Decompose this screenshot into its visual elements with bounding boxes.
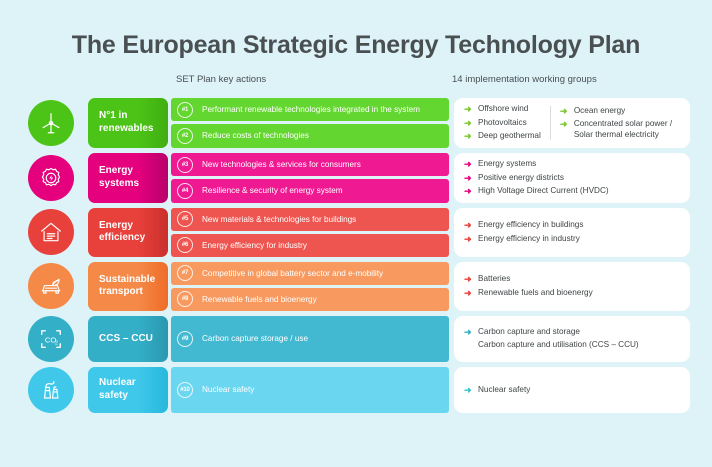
action-badge: #2 — [177, 128, 193, 144]
row-renewables: N°1 in renewables#1Performant renewable … — [28, 98, 690, 148]
action-item[interactable]: #7Competitive in global battery sector a… — [171, 262, 449, 285]
action-text: New technologies & services for consumer… — [202, 160, 361, 170]
arrow-right-icon: ➜ — [464, 220, 475, 230]
row-energy-systems: Energy systems#3New technologies & servi… — [28, 153, 690, 203]
theme-label-text: Nuclear safety — [99, 377, 136, 403]
theme-label-nuclear-safety[interactable]: Nuclear safety — [88, 367, 168, 413]
row-ccs-ccu: CO2CCS – CCU#9Carbon capture storage / u… — [28, 316, 690, 362]
infographic-poster: The European Strategic Energy Technology… — [0, 0, 712, 467]
action-badge: #10 — [177, 382, 193, 398]
gear-bolt-icon — [28, 155, 74, 201]
theme-label-text: Energy efficiency — [99, 220, 145, 246]
actions-panel-renewables: #1Performant renewable technologies inte… — [171, 98, 449, 148]
action-badge: #4 — [177, 183, 193, 199]
working-group-label: Photovoltaics — [478, 118, 527, 129]
arrow-right-icon: ➜ — [464, 104, 475, 114]
working-group-item[interactable]: ➜Positive energy districts — [464, 173, 609, 184]
working-group-item[interactable]: ➜Photovoltaics — [464, 118, 541, 129]
working-group-item[interactable]: ➜Batteries — [464, 274, 593, 285]
working-group-label: Batteries — [478, 274, 510, 285]
arrow-right-icon: ➜ — [464, 288, 475, 298]
working-group-item[interactable]: ➜Offshore wind — [464, 104, 541, 115]
theme-label-sustainable-transport[interactable]: Sustainable transport — [88, 262, 168, 311]
theme-label-renewables[interactable]: N°1 in renewables — [88, 98, 168, 148]
arrow-right-icon: ➜ — [464, 131, 475, 141]
working-group-item[interactable]: ➜Renewable fuels and bioenergy — [464, 288, 593, 299]
svg-text:2: 2 — [55, 340, 58, 346]
working-group-label: High Voltage Direct Current (HVDC) — [478, 186, 609, 197]
actions-panel-energy-efficiency: #5New materials & technologies for build… — [171, 208, 449, 257]
theme-label-text: CCS – CCU — [99, 333, 153, 346]
action-text: Competitive in global battery sector and… — [202, 269, 383, 279]
theme-label-text: N°1 in renewables — [99, 110, 153, 136]
working-group-item[interactable]: ➜Energy systems — [464, 159, 609, 170]
actions-panel-nuclear-safety: #10Nuclear safety — [171, 367, 449, 413]
theme-label-energy-systems[interactable]: Energy systems — [88, 153, 168, 203]
working-group-item-continuation: ➜Carbon capture and utilisation (CCS – C… — [464, 340, 639, 351]
row-nuclear-safety: Nuclear safety#10Nuclear safety➜Nuclear … — [28, 367, 690, 413]
house-document-icon — [28, 209, 74, 255]
arrow-right-icon: ➜ — [464, 186, 475, 196]
groups-panel-energy-efficiency: ➜Energy efficiency in buildings➜Energy e… — [454, 208, 690, 257]
working-group-item[interactable]: ➜Energy efficiency in industry — [464, 234, 583, 245]
working-group-label: Energy systems — [478, 159, 536, 170]
action-badge: #6 — [177, 237, 193, 253]
action-item[interactable]: #4Resilience & security of energy system — [171, 179, 449, 202]
nuclear-plant-icon — [28, 367, 74, 413]
arrow-right-icon: ➜ — [464, 159, 475, 169]
action-item[interactable]: #1Performant renewable technologies inte… — [171, 98, 449, 121]
groups-panel-energy-systems: ➜Energy systems➜Positive energy district… — [454, 153, 690, 203]
action-item[interactable]: #6Energy efficiency for industry — [171, 234, 449, 257]
working-group-label: Nuclear safety — [478, 385, 530, 396]
groups-panel-sustainable-transport: ➜Batteries➜Renewable fuels and bioenergy — [454, 262, 690, 311]
working-group-item[interactable]: ➜Deep geothermal — [464, 131, 541, 142]
arrow-right-icon: ➜ — [560, 119, 571, 129]
page-title: The European Strategic Energy Technology… — [0, 0, 712, 60]
arrow-right-icon: ➜ — [464, 274, 475, 284]
action-text: Carbon capture storage / use — [202, 334, 308, 344]
group-column: ➜Batteries➜Renewable fuels and bioenergy — [464, 274, 602, 298]
action-badge: #7 — [177, 265, 193, 281]
group-column: ➜Energy systems➜Positive energy district… — [464, 159, 618, 197]
actions-panel-sustainable-transport: #7Competitive in global battery sector a… — [171, 262, 449, 311]
working-group-label: Concentrated solar power / Solar thermal… — [574, 119, 672, 140]
action-text: Nuclear safety — [202, 385, 254, 395]
group-column: ➜Ocean energy➜Concentrated solar power /… — [550, 106, 672, 141]
arrow-right-icon: ➜ — [464, 118, 475, 128]
working-group-label: Offshore wind — [478, 104, 528, 115]
action-badge: #1 — [177, 102, 193, 118]
theme-label-text: Sustainable transport — [99, 274, 155, 300]
action-item[interactable]: #9Carbon capture storage / use — [171, 316, 449, 362]
working-group-item[interactable]: ➜Ocean energy — [560, 106, 672, 117]
action-text: Resilience & security of energy system — [202, 186, 343, 196]
arrow-right-icon: ➜ — [560, 106, 571, 116]
working-group-label: Carbon capture and storage — [478, 327, 580, 338]
row-sustainable-transport: Sustainable transport#7Competitive in gl… — [28, 262, 690, 311]
action-text: Renewable fuels and bioenergy — [202, 295, 317, 305]
column-header-actions: SET Plan key actions — [176, 74, 266, 85]
actions-panel-energy-systems: #3New technologies & services for consum… — [171, 153, 449, 203]
column-header-groups: 14 implementation working groups — [452, 74, 597, 85]
action-text: New materials & technologies for buildin… — [202, 215, 356, 225]
group-column: ➜Nuclear safety — [464, 385, 539, 396]
working-group-label: Carbon capture and utilisation (CCS – CC… — [478, 340, 639, 351]
action-text: Energy efficiency for industry — [202, 241, 307, 251]
group-column: ➜Offshore wind➜Photovoltaics➜Deep geothe… — [464, 104, 550, 142]
action-badge: #8 — [177, 291, 193, 307]
working-group-item[interactable]: ➜Concentrated solar power / Solar therma… — [560, 119, 672, 140]
arrow-right-icon: ➜ — [464, 173, 475, 183]
action-badge: #3 — [177, 157, 193, 173]
arrow-right-icon: ➜ — [464, 234, 475, 244]
group-column: ➜Carbon capture and storage➜Carbon captu… — [464, 327, 648, 351]
action-badge: #9 — [177, 331, 193, 347]
working-group-item[interactable]: ➜High Voltage Direct Current (HVDC) — [464, 186, 609, 197]
actions-panel-ccs-ccu: #9Carbon capture storage / use — [171, 316, 449, 362]
working-group-label: Energy efficiency in industry — [478, 234, 580, 245]
action-text: Performant renewable technologies integr… — [202, 105, 420, 115]
working-group-item[interactable]: ➜Nuclear safety — [464, 385, 530, 396]
working-group-label: Renewable fuels and bioenergy — [478, 288, 593, 299]
action-badge: #5 — [177, 211, 193, 227]
action-item[interactable]: #3New technologies & services for consum… — [171, 153, 449, 176]
arrow-right-icon: ➜ — [464, 327, 475, 337]
action-item[interactable]: #2Reduce costs of technologies — [171, 124, 449, 147]
groups-panel-nuclear-safety: ➜Nuclear safety — [454, 367, 690, 413]
groups-panel-ccs-ccu: ➜Carbon capture and storage➜Carbon captu… — [454, 316, 690, 362]
column-headers: SET Plan key actions 14 implementation w… — [0, 74, 712, 96]
rows-container: N°1 in renewables#1Performant renewable … — [0, 98, 712, 413]
action-text: Reduce costs of technologies — [202, 131, 309, 141]
arrow-right-icon: ➜ — [464, 385, 475, 395]
working-group-label: Positive energy districts — [478, 173, 564, 184]
working-group-label: Deep geothermal — [478, 131, 541, 142]
theme-label-ccs-ccu[interactable]: CCS – CCU — [88, 316, 168, 362]
theme-label-energy-efficiency[interactable]: Energy efficiency — [88, 208, 168, 257]
working-group-item[interactable]: ➜Carbon capture and storage — [464, 327, 639, 338]
working-group-label: Energy efficiency in buildings — [478, 220, 583, 231]
working-group-label: Ocean energy — [574, 106, 625, 117]
wind-turbine-icon — [28, 100, 74, 146]
car-leaf-icon — [28, 263, 74, 309]
action-item[interactable]: #5New materials & technologies for build… — [171, 208, 449, 231]
action-item[interactable]: #10Nuclear safety — [171, 367, 449, 413]
theme-label-text: Energy systems — [99, 165, 139, 191]
action-item[interactable]: #8Renewable fuels and bioenergy — [171, 288, 449, 311]
group-column: ➜Energy efficiency in buildings➜Energy e… — [464, 220, 592, 244]
groups-panel-renewables: ➜Offshore wind➜Photovoltaics➜Deep geothe… — [454, 98, 690, 148]
row-energy-efficiency: Energy efficiency#5New materials & techn… — [28, 208, 690, 257]
co2-icon: CO2 — [28, 316, 74, 362]
working-group-item[interactable]: ➜Energy efficiency in buildings — [464, 220, 583, 231]
